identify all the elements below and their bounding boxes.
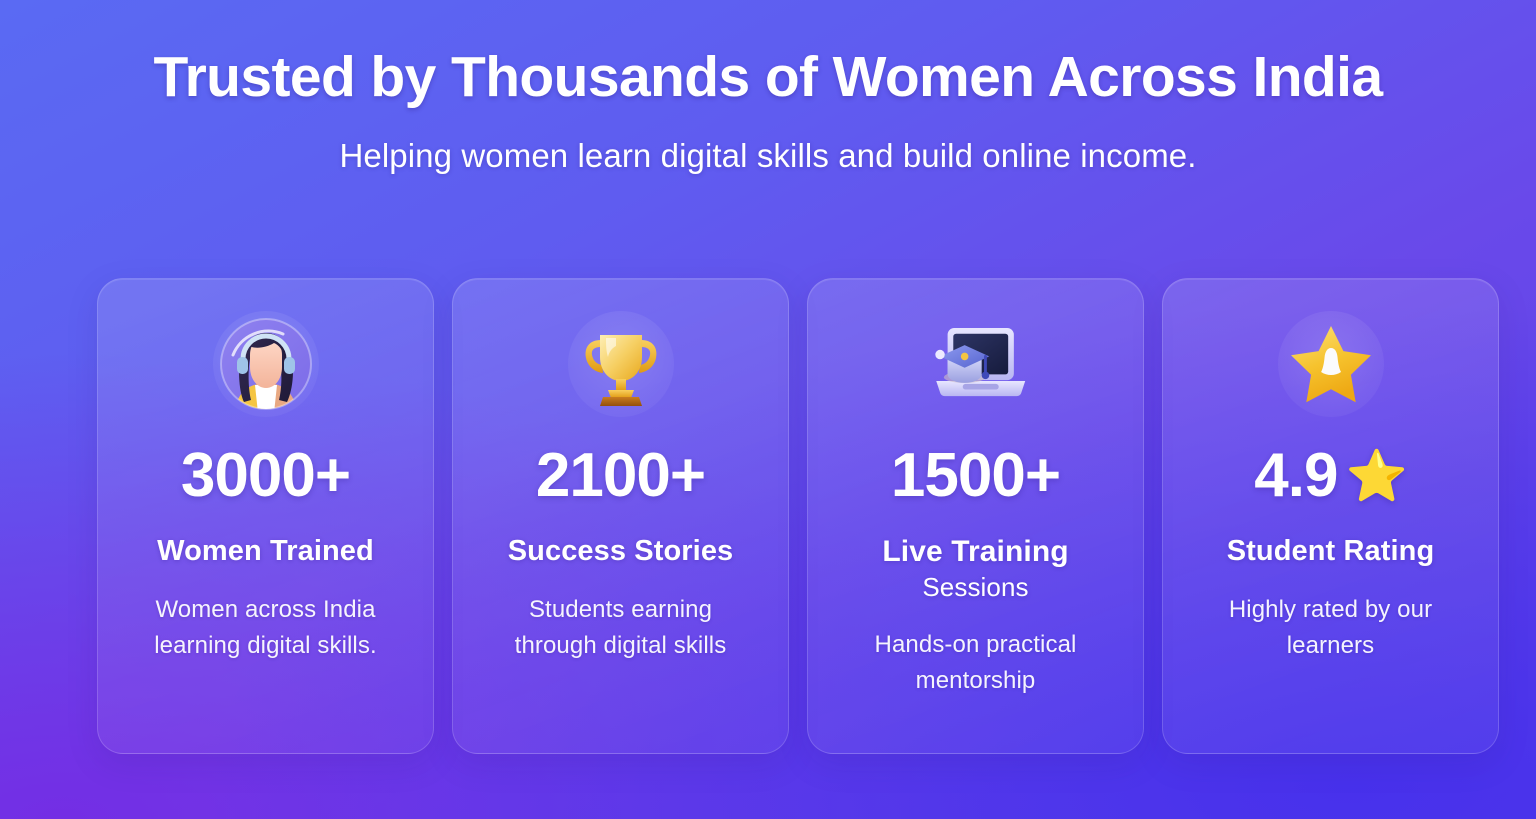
stat-card-live-training[interactable]: 1500+ Live Training Sessions Hands-on pr… — [807, 278, 1144, 754]
inline-star-icon: ⭐ — [1345, 451, 1406, 501]
stat-label: Women Trained — [157, 533, 374, 570]
stat-label: Student Rating — [1227, 533, 1435, 570]
stat-label-main: Live Training — [882, 535, 1068, 568]
stat-card-women-trained[interactable]: 3000+ Women Trained Women across India l… — [97, 278, 434, 754]
woman-avatar-icon — [213, 311, 319, 417]
stat-number: 1500+ — [891, 445, 1060, 507]
star-icon — [1278, 311, 1384, 417]
stat-description: Women across India learning digital skil… — [126, 592, 406, 664]
page-title: Trusted by Thousands of Women Across Ind… — [0, 46, 1536, 110]
stat-number: 2100+ — [536, 445, 705, 507]
stat-card-student-rating[interactable]: 4.9 ⭐ Student Rating Highly rated by our… — [1162, 278, 1499, 754]
trophy-icon — [568, 311, 674, 417]
stat-description: Students earning through digital skills — [496, 592, 746, 664]
stat-label-sub: Sessions — [882, 571, 1068, 604]
stat-card-success-stories[interactable]: 2100+ Success Stories Students earning t… — [452, 278, 789, 754]
stat-label: Success Stories — [508, 533, 734, 570]
stat-label: Live Training Sessions — [882, 533, 1068, 605]
hero-header: Trusted by Thousands of Women Across Ind… — [0, 0, 1536, 175]
stat-number: 4.9 ⭐ — [1254, 445, 1406, 507]
laptop-graduation-icon — [923, 311, 1029, 417]
page-subtitle: Helping women learn digital skills and b… — [0, 137, 1536, 175]
stat-description: Highly rated by our learners — [1206, 592, 1456, 664]
stats-card-row: 3000+ Women Trained Women across India l… — [97, 278, 1499, 754]
stat-number: 3000+ — [181, 445, 350, 507]
stat-description: Hands-on practical mentorship — [836, 627, 1116, 699]
stat-number-value: 4.9 — [1254, 445, 1337, 507]
